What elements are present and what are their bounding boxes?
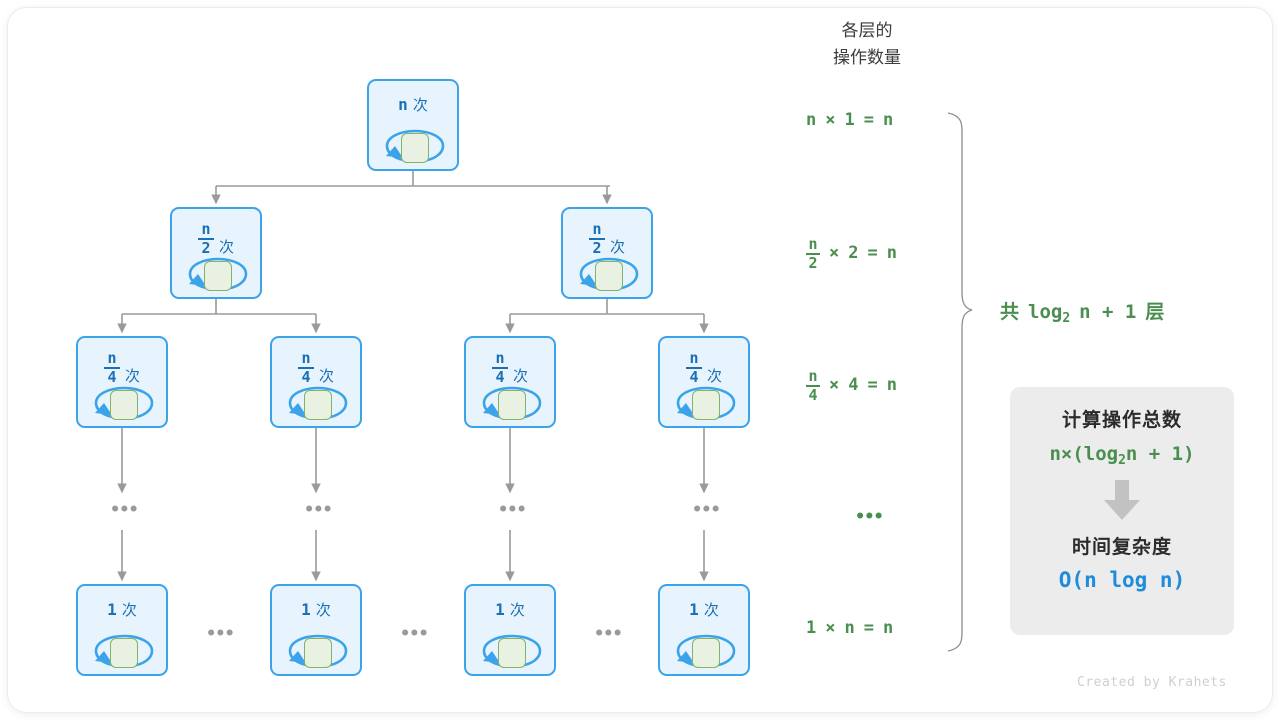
credit-label: Created by Krahets (1077, 675, 1227, 690)
summary-panel-complexity: O(n log n) (1059, 568, 1185, 592)
fraction-denominator: 2 (808, 256, 817, 271)
levels-label: 共 log 2 n + 1 层 (1000, 297, 1164, 324)
inner-work-box (498, 390, 526, 420)
ops-right: 1 (845, 110, 855, 130)
ops-right: n (845, 618, 855, 638)
inner-work-box (595, 261, 623, 291)
inner-work-box (498, 638, 526, 668)
inner-work-box (692, 390, 720, 420)
inner-work-box (204, 261, 232, 291)
tree-node-level-3-a[interactable]: n 4 次 (76, 336, 168, 428)
tree-node-last-b[interactable]: 1 次 (270, 584, 362, 676)
fraction-numerator: n (808, 237, 817, 252)
inner-work-box (110, 390, 138, 420)
tree-node-level-2-left[interactable]: n 2 次 (170, 207, 262, 299)
tree-ellipsis-d: ••• (692, 500, 720, 520)
ops-result: n (887, 375, 897, 395)
tree-node-level-1[interactable]: n 次 (367, 79, 459, 171)
node-count-fraction: n 2 (589, 222, 605, 256)
node-label: n 2 次 (563, 221, 651, 255)
summary-panel: 计算操作总数 n×(log 2 n + 1) 时间复杂度 O(n log n) (1010, 387, 1234, 635)
node-label: n 4 次 (466, 350, 554, 384)
ops-result: n (883, 618, 893, 638)
levels-prefix: 共 (1000, 297, 1019, 324)
ops-left: 1 (806, 618, 816, 638)
ops-left: n (806, 110, 816, 130)
node-label: n 次 (369, 97, 457, 113)
ops-equals: = (864, 110, 874, 130)
ops-times: × (829, 243, 839, 263)
summary-panel-title: 计算操作总数 (1062, 405, 1182, 432)
fraction-numerator: n (495, 351, 504, 366)
tree-node-level-2-right[interactable]: n 2 次 (561, 207, 653, 299)
ops-times: × (825, 618, 835, 638)
node-label: n 4 次 (272, 350, 360, 384)
fraction-numerator: n (107, 351, 116, 366)
node-count: n (398, 97, 408, 113)
ops-equals: = (868, 243, 878, 263)
tree-node-level-3-d[interactable]: n 4 次 (658, 336, 750, 428)
inner-work-box (401, 133, 429, 163)
node-count-fraction: n 4 (104, 351, 120, 385)
ops-result: n (883, 110, 893, 130)
node-count-fraction: n 4 (298, 351, 314, 385)
header-note: 各层的 操作数量 (815, 18, 919, 72)
node-unit: 次 (510, 603, 525, 618)
node-unit: 次 (316, 603, 331, 618)
node-label: n 4 次 (660, 350, 748, 384)
ops-row-level-3: n 4 × 4 = n (806, 368, 897, 402)
fraction-denominator: 4 (808, 388, 817, 403)
header-note-line1: 各层的 (815, 18, 919, 45)
ops-row-level-2: n 2 × 2 = n (806, 236, 897, 270)
levels-log-base: 2 (1062, 311, 1070, 326)
ops-equals: = (864, 618, 874, 638)
node-unit: 次 (122, 603, 137, 618)
node-count: 1 (301, 602, 311, 618)
ops-right: 4 (848, 375, 858, 395)
ops-left-fraction: n 4 (806, 369, 820, 403)
down-arrow-icon (1099, 478, 1145, 522)
levels-unit: 层 (1145, 297, 1164, 324)
bottom-ellipsis-1: ••• (206, 624, 234, 644)
fraction-numerator: n (201, 222, 210, 237)
fraction-numerator: n (592, 222, 601, 237)
summary-panel-formula: n×(log 2 n + 1) (1049, 443, 1194, 465)
node-unit: 次 (413, 98, 428, 113)
bottom-ellipsis-3: ••• (594, 624, 622, 644)
inner-work-box (692, 638, 720, 668)
ops-row-last: 1 × n = n (806, 618, 893, 638)
tree-ellipsis-b: ••• (304, 500, 332, 520)
formula-prefix: n×(log (1049, 443, 1118, 465)
fraction-numerator: n (301, 351, 310, 366)
diagram-canvas: 各层的 操作数量 n 次 n 2 次 (0, 0, 1280, 720)
ops-row-level-1: n × 1 = n (806, 110, 893, 130)
tree-ellipsis-a: ••• (110, 500, 138, 520)
tree-node-last-c[interactable]: 1 次 (464, 584, 556, 676)
summary-panel-title2: 时间复杂度 (1072, 532, 1172, 559)
ops-times: × (825, 110, 835, 130)
levels-log: log (1028, 301, 1062, 323)
formula-suffix: n + 1) (1126, 443, 1195, 465)
fraction-numerator: n (808, 369, 817, 384)
tree-node-last-d[interactable]: 1 次 (658, 584, 750, 676)
node-unit: 次 (704, 603, 719, 618)
header-note-line2: 操作数量 (815, 45, 919, 72)
tree-ellipsis-c: ••• (498, 500, 526, 520)
node-count: 1 (689, 602, 699, 618)
ops-right: 2 (848, 243, 858, 263)
node-label: 1 次 (272, 602, 360, 618)
levels-suffix: n + 1 (1079, 301, 1136, 323)
formula-log-base: 2 (1118, 453, 1126, 468)
tree-node-level-3-b[interactable]: n 4 次 (270, 336, 362, 428)
node-count: 1 (107, 602, 117, 618)
ops-ellipsis: ••• (855, 507, 883, 527)
tree-node-level-3-c[interactable]: n 4 次 (464, 336, 556, 428)
node-count-fraction: n 4 (492, 351, 508, 385)
ops-times: × (829, 375, 839, 395)
node-count-fraction: n 4 (686, 351, 702, 385)
ops-result: n (887, 243, 897, 263)
tree-node-last-a[interactable]: 1 次 (76, 584, 168, 676)
bottom-ellipsis-2: ••• (400, 624, 428, 644)
inner-work-box (110, 638, 138, 668)
node-label: 1 次 (466, 602, 554, 618)
ops-left-fraction: n 2 (806, 237, 820, 271)
inner-work-box (304, 638, 332, 668)
node-count-fraction: n 2 (198, 222, 214, 256)
node-label: n 4 次 (78, 350, 166, 384)
node-label: 1 次 (78, 602, 166, 618)
inner-work-box (304, 390, 332, 420)
node-count: 1 (495, 602, 505, 618)
fraction-numerator: n (689, 351, 698, 366)
ops-equals: = (868, 375, 878, 395)
node-label: n 2 次 (172, 221, 260, 255)
node-label: 1 次 (660, 602, 748, 618)
